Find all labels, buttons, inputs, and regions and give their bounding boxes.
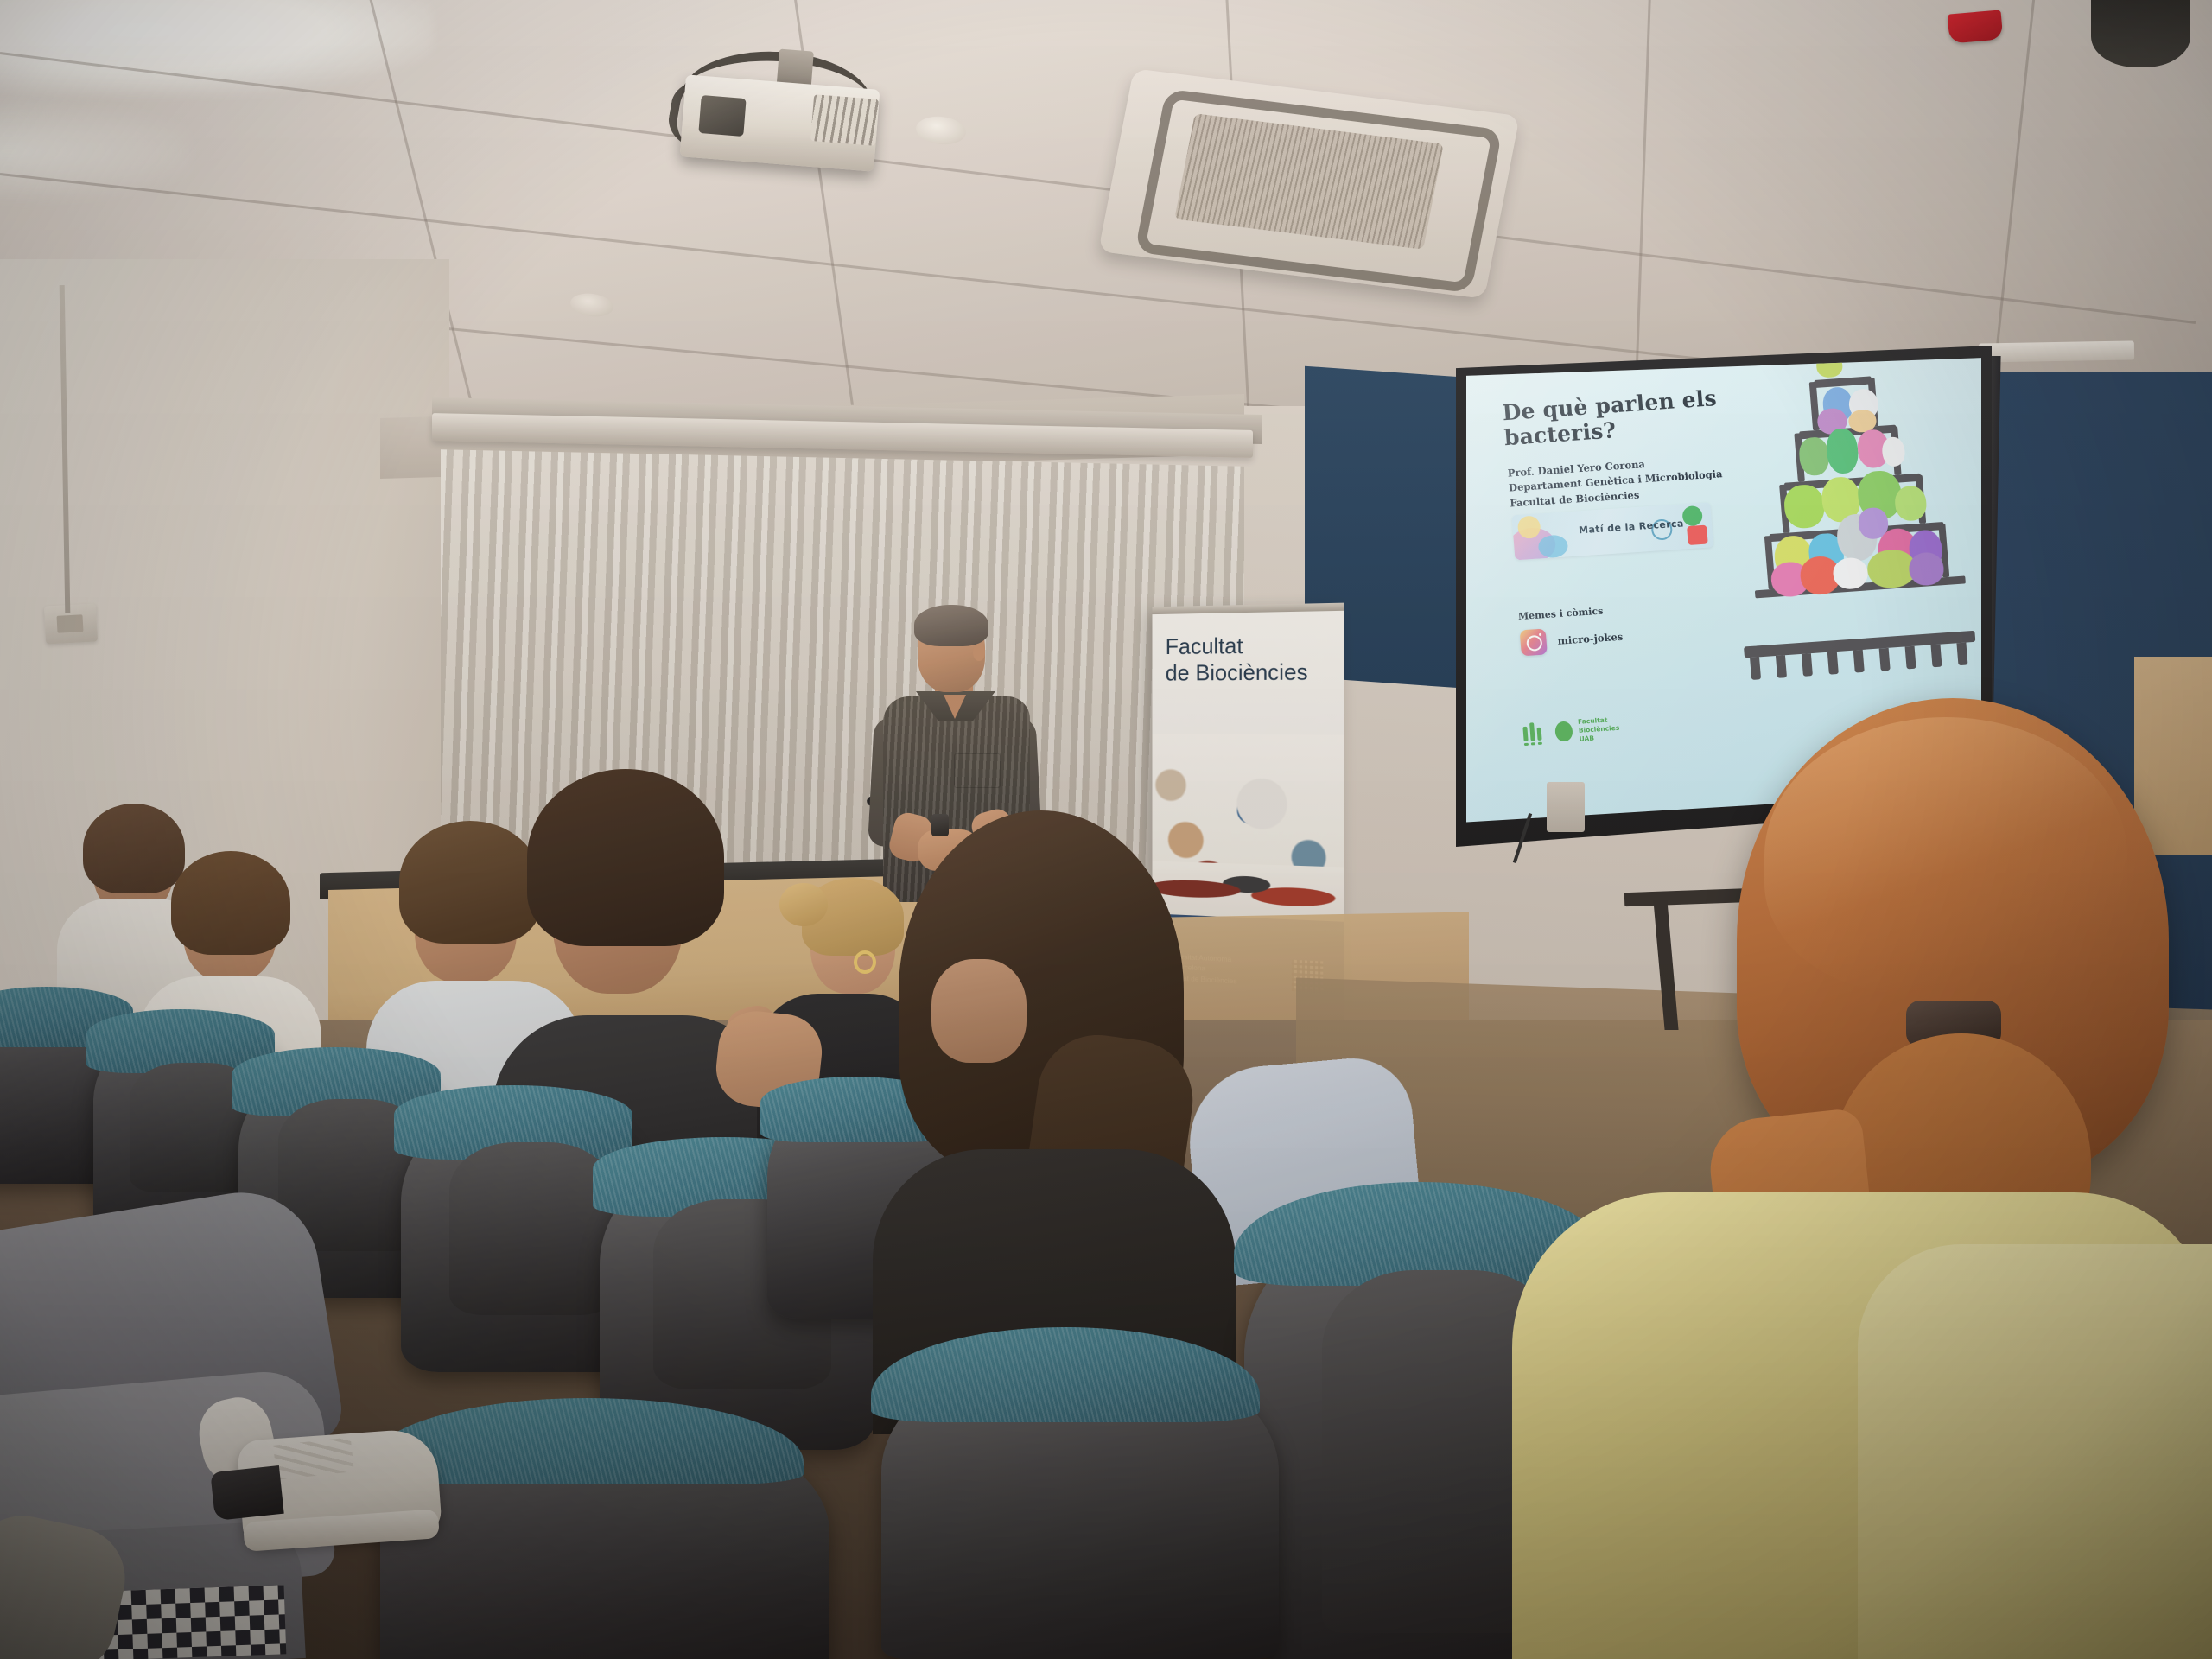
banner-artwork-lower [1153, 861, 1344, 922]
audience-shoulder [1858, 1244, 2212, 1659]
slide-footer-logo-text: Facultat Biociències UAB [1578, 715, 1621, 744]
social-handle: micro-jokes [1557, 631, 1624, 647]
projector-lens-icon [698, 95, 746, 137]
pyramid-base-leg [1776, 655, 1787, 678]
banner-title-line-1: Facultat [1166, 632, 1328, 660]
chair-back [449, 1142, 613, 1315]
uab-logo-mark-icon [1522, 721, 1550, 746]
pyramid-base-leg [1802, 653, 1813, 677]
foreground-shoe-dark [210, 1465, 283, 1521]
pyramid-base-leg [1853, 650, 1865, 673]
audience-hair [171, 851, 290, 955]
presenter-ear [973, 644, 985, 661]
presentation-clicker [931, 814, 949, 836]
banner-title-line-2: de Biociències [1166, 658, 1328, 686]
presenter-hair [914, 605, 988, 646]
social-label: Memes i còmics [1517, 606, 1603, 622]
hair-bun [779, 883, 828, 926]
ceiling-speaker [2091, 0, 2190, 67]
audience-hair [527, 769, 724, 946]
pyramid-base-leg [1750, 657, 1761, 680]
audience-hair [399, 821, 541, 944]
wall-panel-plate [1547, 782, 1585, 832]
microbe-icon [1783, 484, 1826, 530]
instagram-icon [1520, 628, 1548, 656]
cork-board [2134, 657, 2212, 855]
presenter-shirt-pocket [954, 753, 1001, 788]
slide-footer-logo: Facultat Biociències UAB [1522, 715, 1620, 747]
wall-switch-icon[interactable] [56, 614, 83, 633]
green-badge-icon [1681, 505, 1703, 526]
audience-hair-highlight [1764, 717, 2127, 994]
pyramid-base-leg [1879, 648, 1891, 671]
earring-icon [854, 950, 876, 974]
uab-logo-blob-icon [1554, 721, 1573, 742]
fire-alarm-light [1948, 10, 2004, 43]
event-banner: Matí de la Recerca [1512, 502, 1713, 560]
projector-vent-icon [810, 94, 879, 146]
instagram-ring-icon [1526, 635, 1542, 652]
microbe-pyramid-illustration [1737, 356, 1980, 715]
lecture-hall-photo: De què parlen els bacteris? Prof. Daniel… [0, 0, 2212, 1659]
projection-screen-rail [1979, 340, 2134, 362]
banner-title: Facultat de Biociències [1166, 632, 1328, 686]
pyramid-base-leg [1905, 646, 1916, 670]
audience-neck [931, 959, 1027, 1063]
instagram-dot-icon [1539, 633, 1542, 637]
red-badge-icon [1687, 525, 1708, 545]
pyramid-base-leg [1956, 643, 1967, 666]
audience-hair [83, 804, 185, 893]
pyramid-base-leg [1930, 645, 1942, 668]
pyramid-base-leg [1827, 652, 1839, 675]
pyramid-shelf [1815, 376, 1872, 388]
logo-line-3: UAB [1579, 732, 1620, 743]
